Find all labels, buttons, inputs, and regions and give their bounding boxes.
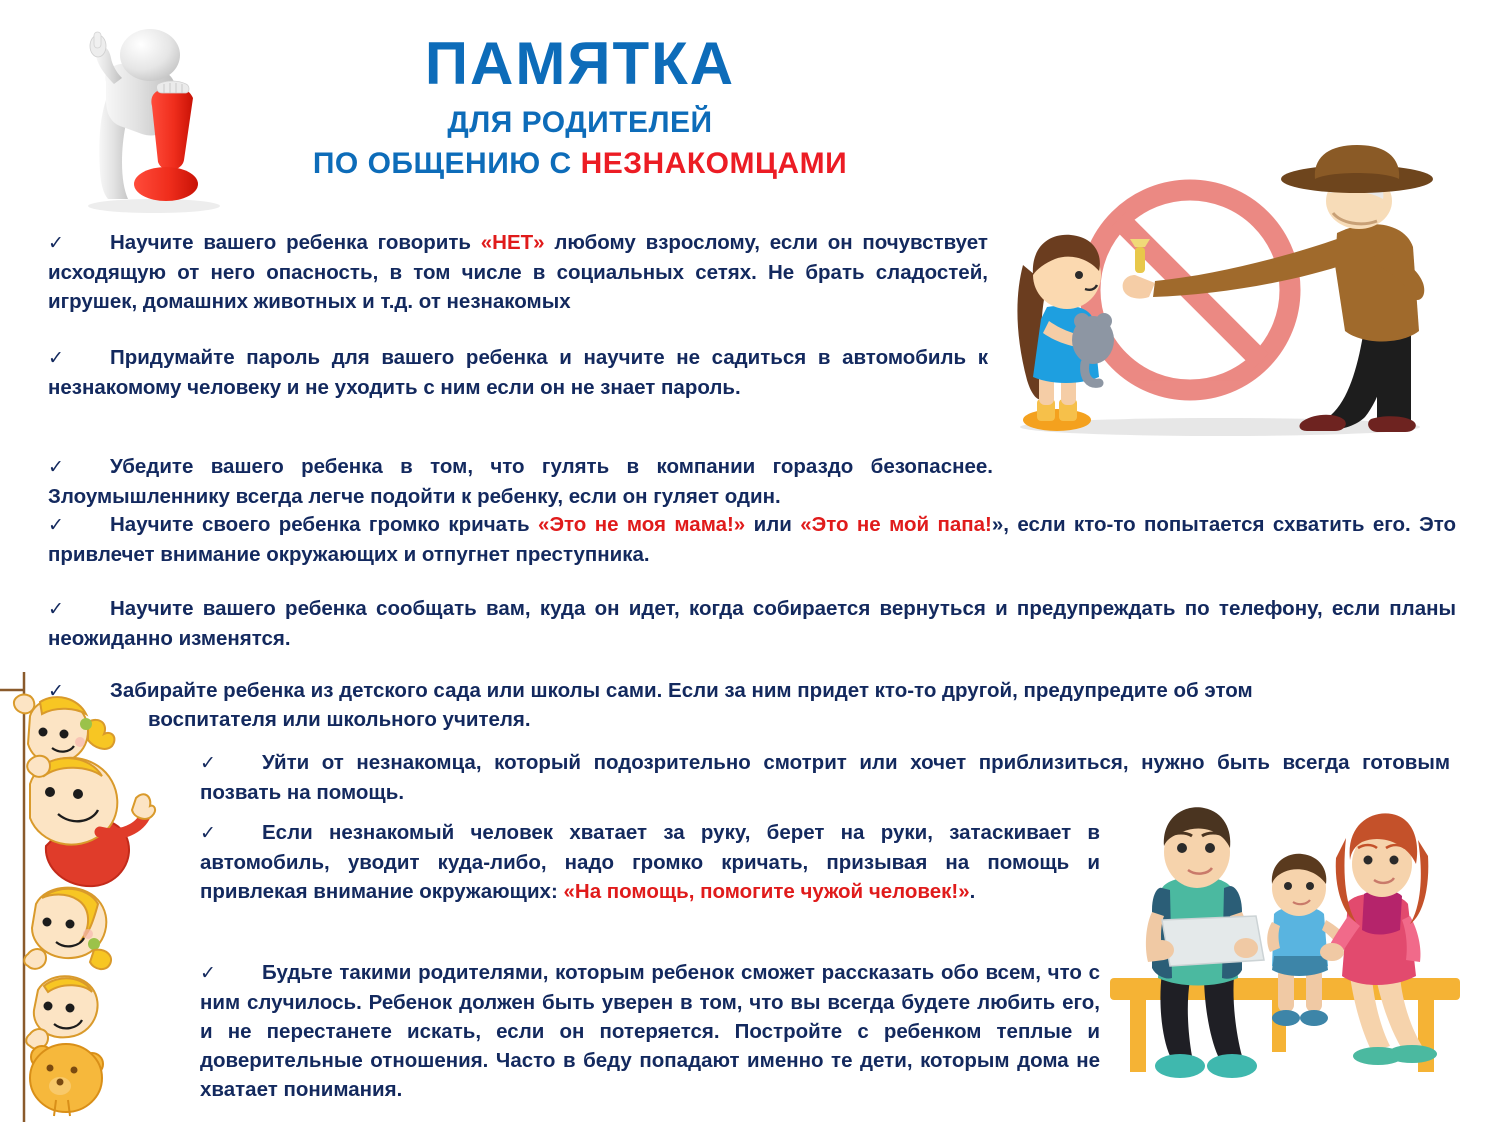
child-1 — [14, 695, 115, 764]
check-icon: ✓ — [200, 821, 262, 848]
teddy-head — [30, 1044, 102, 1112]
child-3 — [24, 888, 111, 969]
subtitle-highlight: НЕЗНАКОМЦАМИ — [581, 147, 848, 180]
figure-index-finger — [94, 32, 101, 48]
poster-header: ПАМЯТКА ДЛЯ РОДИТЕЛЕЙ ПО ОБЩЕНИЮ С НЕЗНА… — [0, 0, 1500, 205]
stranger-shoe-front — [1300, 415, 1346, 431]
check-icon: ✓ — [48, 597, 110, 624]
bullet-paragraph-5: ✓Научите вашего ребенка сообщать вам, ку… — [48, 594, 1456, 653]
mother-hand — [1320, 943, 1344, 961]
teddy-bear — [30, 1044, 103, 1116]
stranger-danger-illustration — [985, 135, 1455, 445]
p8-text-red: «На помощь, помогите чужой человек!» — [563, 880, 969, 903]
bullet-paragraph-1: ✓Научите вашего ребенка говорить «НЕТ» л… — [48, 228, 988, 316]
bullet-paragraph-6: ✓Забирайте ребенка из детского сада или … — [48, 676, 1428, 706]
child-shoe-left — [1272, 1010, 1300, 1026]
bench-leg-left — [1130, 1000, 1146, 1072]
p4-text-a: Научите своего ребенка громко кричать — [110, 513, 538, 536]
girl-eye — [1075, 271, 1083, 279]
bullet-paragraph-9: ✓Будьте такими родителями, которым ребен… — [200, 958, 1100, 1104]
father-hand-right — [1234, 938, 1258, 958]
child-3-hairband — [88, 938, 100, 950]
poster-root: ПАМЯТКА ДЛЯ РОДИТЕЛЕЙ ПО ОБЩЕНИЮ С НЕЗНА… — [0, 0, 1500, 1125]
bullet-paragraph-8: ✓Если незнакомый человек хватает за руку… — [200, 818, 1100, 906]
stranger-hand — [1123, 275, 1155, 299]
check-icon: ✓ — [48, 346, 110, 373]
figure-hand-resting — [157, 81, 189, 93]
p1-text-a: Научите вашего ребенка говорить — [110, 231, 481, 254]
exclamation-stem — [151, 87, 193, 170]
bullet-paragraph-3: ✓Убедите вашего ребенка в том, что гулят… — [48, 452, 993, 511]
p4-text-b: или — [745, 513, 800, 536]
title-block: ПАМЯТКА ДЛЯ РОДИТЕЛЕЙ ПО ОБЩЕНИЮ С НЕЗНА… — [250, 32, 910, 183]
father-shoe-left — [1155, 1054, 1205, 1078]
child-2 — [27, 756, 155, 886]
bullet-paragraph-6-line2: воспитателя или школьного учителя. — [148, 708, 1448, 732]
p4-text-red-2: «Это не мой папа! — [800, 513, 992, 536]
teddy-nose — [57, 1079, 64, 1086]
child-3-pigtail — [90, 950, 111, 969]
check-icon: ✓ — [200, 961, 262, 988]
bullet-paragraph-2: ✓Придумайте пароль для вашего ребенка и … — [48, 343, 988, 402]
p6-text: Забирайте ребенка из детского сада или ш… — [110, 679, 1253, 702]
p2-text: Придумайте пароль для вашего ребенка и н… — [48, 346, 988, 399]
exclamation-dot — [134, 167, 198, 201]
p4-text-c: » — [992, 513, 1003, 536]
figure-shadow — [88, 199, 220, 213]
child-shorts — [1272, 956, 1328, 976]
father-figure — [1146, 807, 1264, 1078]
child-3-hand — [24, 949, 46, 969]
page-subtitle-2: ПО ОБЩЕНИЮ С НЕЗНАКОМЦАМИ — [250, 144, 910, 183]
stranger-leg-back — [1377, 331, 1411, 423]
p1-text-red: «НЕТ» — [481, 231, 545, 254]
check-icon: ✓ — [48, 513, 110, 540]
check-icon: ✓ — [200, 751, 262, 778]
p4-text-red-1: «Это не моя мама!» — [538, 513, 745, 536]
family-on-bench-illustration — [1100, 790, 1470, 1090]
child-1-hairband — [80, 718, 92, 730]
girl-platform — [1023, 409, 1091, 431]
figure-head — [120, 29, 180, 81]
father-shoe-right — [1207, 1054, 1257, 1078]
subtitle-prefix: ПО ОБЩЕНИЮ С — [313, 147, 581, 180]
check-icon: ✓ — [48, 455, 110, 482]
p3-text: Убедите вашего ребенка в том, что гулять… — [48, 455, 993, 508]
p5-text: Научите вашего ребенка сообщать вам, куд… — [48, 597, 1456, 650]
p9-text: Будьте такими родителями, которым ребено… — [200, 961, 1100, 1101]
child-shoe-right — [1300, 1010, 1328, 1026]
bullet-paragraph-4: ✓Научите своего ребенка громко кричать «… — [48, 510, 1456, 569]
father-hand-left — [1150, 940, 1174, 960]
page-title: ПАМЯТКА — [250, 32, 910, 95]
exclamation-figure-illustration — [62, 22, 242, 212]
child-1-hand — [14, 695, 34, 714]
child-arm-left — [1267, 922, 1280, 952]
child-4 — [26, 976, 97, 1049]
child-2-hand — [27, 756, 50, 777]
check-icon: ✓ — [48, 231, 110, 258]
child-2-hand-waving — [132, 794, 155, 819]
girl-figure — [1017, 235, 1114, 431]
mother-shoe-right — [1387, 1045, 1437, 1063]
peeking-children-illustration — [0, 672, 150, 1122]
page-subtitle-1: ДЛЯ РОДИТЕЛЕЙ — [250, 103, 910, 144]
p8-text-b: . — [970, 880, 976, 903]
